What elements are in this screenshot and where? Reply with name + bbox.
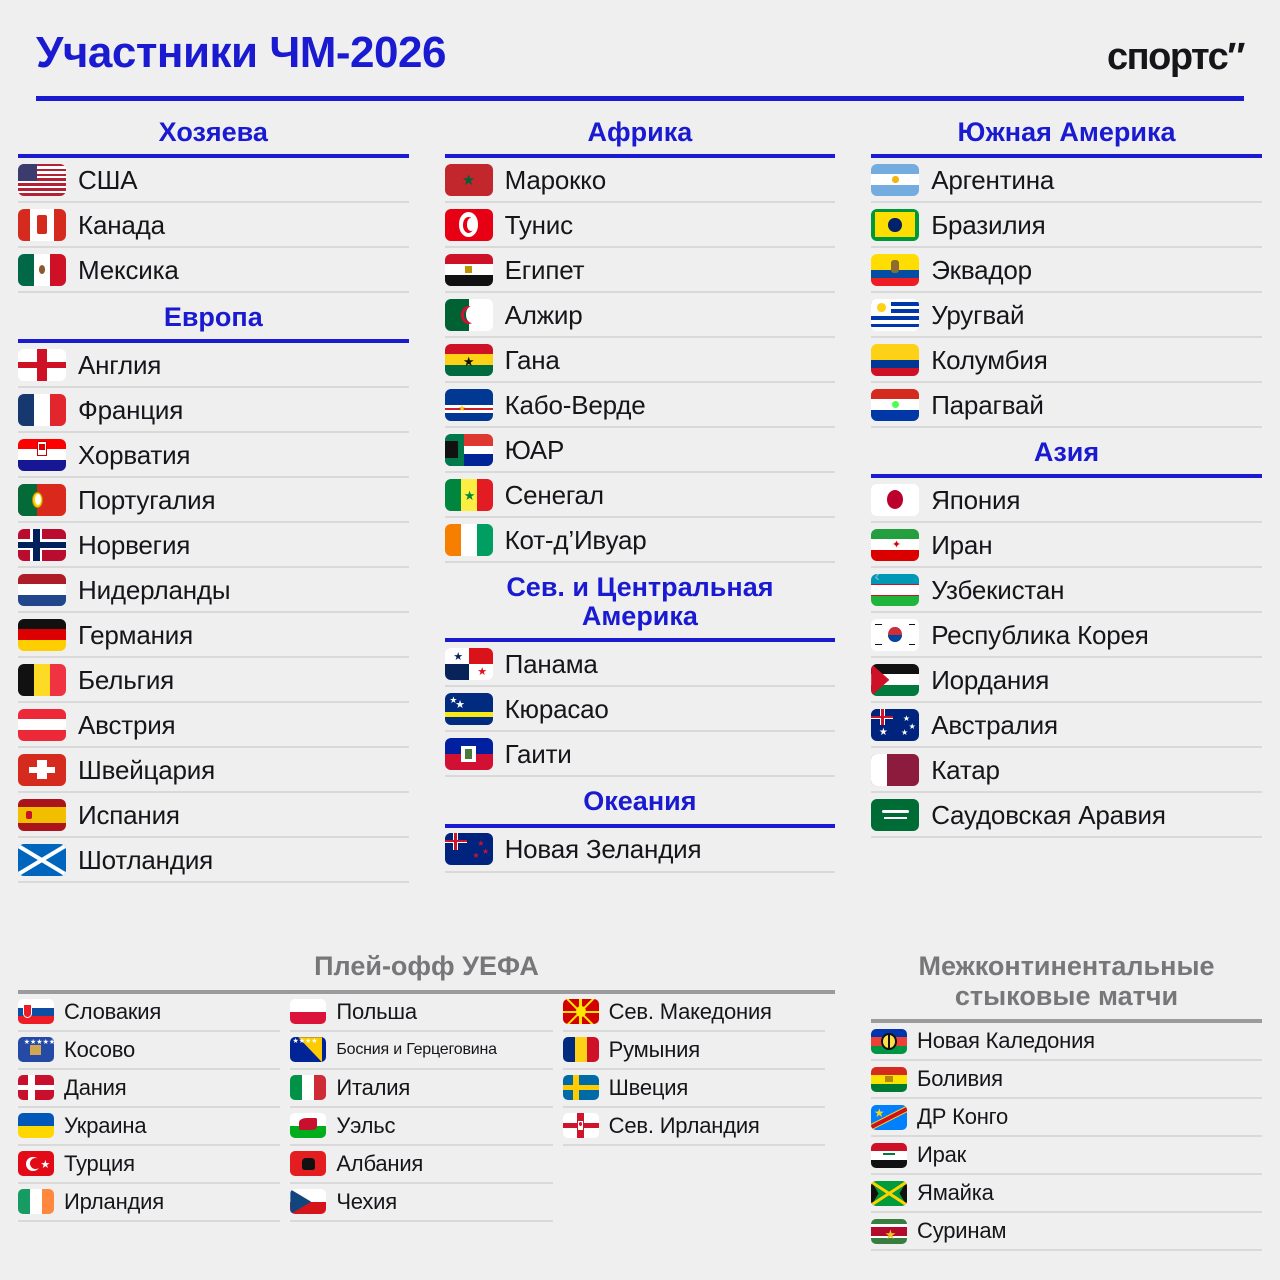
flag-jo-icon	[871, 664, 919, 696]
country-name: Новая Каледония	[917, 1028, 1095, 1054]
country-row[interactable]: ★Марокко	[445, 158, 836, 203]
confederation-section: ХозяеваСШАКанадаМексика	[18, 112, 409, 293]
flag-ie-icon	[18, 1189, 54, 1214]
country-row[interactable]: ★★★Новая Зеландия	[445, 828, 836, 873]
confederation-column: Южная АмерикаАргентинаБразилияЭквадорУру…	[853, 112, 1280, 887]
flag-ua-icon	[18, 1113, 54, 1138]
country-row[interactable]: Эквадор	[871, 248, 1262, 293]
flag-ar-icon	[871, 164, 919, 196]
country-row[interactable]: ✦Иран	[871, 523, 1262, 568]
country-row[interactable]: Германия	[18, 613, 409, 658]
flag-eg-icon	[445, 254, 493, 286]
section-title: Европа	[18, 297, 409, 339]
country-name: Турция	[64, 1151, 135, 1177]
section-title: Сев. и Центральная Америка	[445, 567, 836, 638]
header: Участники ЧМ-2026 спортс″	[0, 0, 1280, 104]
flag-co-icon	[871, 344, 919, 376]
country-name: Узбекистан	[931, 577, 1064, 603]
flag-be-icon	[18, 664, 66, 696]
flag-ca-icon	[18, 209, 66, 241]
country-row[interactable]: Мексика	[18, 248, 409, 293]
country-row[interactable]: ★★Кюрасао	[445, 687, 836, 732]
country-name: Уэльс	[336, 1113, 395, 1139]
playoff-country-row[interactable]: Ирландия	[18, 1184, 280, 1222]
country-row[interactable]: Канада	[18, 203, 409, 248]
flag-fr-icon	[18, 394, 66, 426]
flag-sr-icon: ★	[871, 1219, 907, 1244]
intercontinental-country-row[interactable]: ★Суринам	[871, 1213, 1262, 1251]
playoff-subcolumn: Словакия★★★★★★КосовоДанияУкраина★ТурцияИ…	[18, 994, 290, 1222]
confederation-section: Африка★МароккоТунисЕгипетАлжир★Гана★Кабо…	[445, 112, 836, 563]
playoff-country-row[interactable]: Словакия	[18, 994, 280, 1032]
flag-nz-icon: ★★★	[445, 833, 493, 865]
playoff-country-row[interactable]: Швеция	[563, 1070, 825, 1108]
country-row[interactable]: Бельгия	[18, 658, 409, 703]
country-name: Албания	[336, 1151, 423, 1177]
flag-sn-icon: ★	[445, 479, 493, 511]
flag-no-icon	[18, 529, 66, 561]
flag-jm-icon	[871, 1181, 907, 1206]
intercontinental-block: Межконтинентальные стыковые матчи Новая …	[853, 948, 1280, 1251]
country-name: Англия	[78, 352, 161, 378]
flag-xk-icon: ★★★★★★	[18, 1037, 54, 1062]
flag-iq-icon	[871, 1143, 907, 1168]
intercontinental-country-row[interactable]: Ирак	[871, 1137, 1262, 1175]
confederation-column: ХозяеваСШАКанадаМексикаЕвропаАнглияФранц…	[0, 112, 427, 887]
uefa-playoff-title: Плей-офф УЕФА	[18, 948, 835, 990]
flag-cv-icon: ★	[445, 389, 493, 421]
country-name: Польша	[336, 999, 417, 1025]
country-row[interactable]: Алжир	[445, 293, 836, 338]
playoff-country-row[interactable]: Польша	[290, 994, 552, 1032]
section-title: Африка	[445, 112, 836, 154]
country-row[interactable]: Испания	[18, 793, 409, 838]
country-row[interactable]: Шотландия	[18, 838, 409, 883]
flag-cw-icon: ★★	[445, 693, 493, 725]
country-name: Шотландия	[78, 847, 213, 873]
country-name: Швеция	[609, 1075, 688, 1101]
flag-mx-icon	[18, 254, 66, 286]
section-title: Южная Америка	[871, 112, 1262, 154]
country-name: Австралия	[931, 712, 1058, 738]
intercontinental-country-row[interactable]: Новая Каледония	[871, 1023, 1262, 1061]
confederation-section: Южная АмерикаАргентинаБразилияЭквадорУру…	[871, 112, 1262, 428]
flag-it-icon	[290, 1075, 326, 1100]
flag-se-icon	[563, 1075, 599, 1100]
country-name: Гана	[505, 347, 560, 373]
flag-en-icon	[18, 349, 66, 381]
header-divider	[36, 96, 1244, 101]
flag-bo-icon	[871, 1067, 907, 1092]
flag-ro-icon	[563, 1037, 599, 1062]
country-row[interactable]: Саудовская Аравия	[871, 793, 1262, 838]
country-name: Тунис	[505, 212, 573, 238]
country-name: ЮАР	[505, 437, 565, 463]
country-name: Республика Корея	[931, 622, 1148, 648]
country-name: Катар	[931, 757, 1000, 783]
country-name: Ямайка	[917, 1180, 994, 1206]
country-row[interactable]: ★Гана	[445, 338, 836, 383]
country-name: Иран	[931, 532, 992, 558]
flag-gh-icon: ★	[445, 344, 493, 376]
flag-hr-icon	[18, 439, 66, 471]
flag-us-icon	[18, 164, 66, 196]
playoff-country-row[interactable]: Италия	[290, 1070, 552, 1108]
country-row[interactable]: Уругвай	[871, 293, 1262, 338]
country-name: Новая Зеландия	[505, 836, 702, 862]
section-title: Океания	[445, 781, 836, 823]
flag-nc-icon	[871, 1029, 907, 1054]
flag-ch-icon	[18, 754, 66, 786]
country-row[interactable]: Франция	[18, 388, 409, 433]
country-name: Нидерланды	[78, 577, 230, 603]
country-name: Япония	[931, 487, 1020, 513]
flag-al-icon	[290, 1151, 326, 1176]
confederation-section: Сев. и Центральная Америка★★Панама★★Кюра…	[445, 567, 836, 777]
country-name: Сенегал	[505, 482, 604, 508]
country-row[interactable]: ★Кабо-Верде	[445, 383, 836, 428]
flag-py-icon	[871, 389, 919, 421]
country-name: Украина	[64, 1113, 146, 1139]
flag-ec-icon	[871, 254, 919, 286]
playoff-country-row[interactable]: Чехия	[290, 1184, 552, 1222]
playoff-subcolumn: Сев. МакедонияРумынияШвецияСев. Ирландия	[563, 994, 835, 1222]
flag-tr-icon: ★	[18, 1151, 54, 1176]
country-name: Косово	[64, 1037, 135, 1063]
country-name: Германия	[78, 622, 193, 648]
country-name: Иордания	[931, 667, 1049, 693]
country-name: Эквадор	[931, 257, 1032, 283]
country-name: Дания	[64, 1075, 127, 1101]
playoff-country-row[interactable]: ★★★★★★Косово	[18, 1032, 280, 1070]
country-name: Норвегия	[78, 532, 190, 558]
country-row[interactable]: Тунис	[445, 203, 836, 248]
country-name: Египет	[505, 257, 585, 283]
flag-ir-icon: ✦	[871, 529, 919, 561]
intercontinental-title: Межконтинентальные стыковые матчи	[871, 948, 1262, 1019]
flag-pa-icon: ★★	[445, 648, 493, 680]
country-name: Боливия	[917, 1066, 1003, 1092]
confederation-section: АзияЯпония✦Иран☾УзбекистанРеспублика Кор…	[871, 432, 1262, 838]
country-name: Кюрасао	[505, 696, 609, 722]
flag-uy-icon	[871, 299, 919, 331]
flag-ba-icon: ★★★★	[290, 1037, 326, 1062]
country-row[interactable]: Аргентина	[871, 158, 1262, 203]
country-row[interactable]: Португалия	[18, 478, 409, 523]
country-name: Бельгия	[78, 667, 174, 693]
country-row[interactable]: Иордания	[871, 658, 1262, 703]
country-name: Италия	[336, 1075, 410, 1101]
country-name: Гаити	[505, 741, 572, 767]
flag-sa-icon	[871, 799, 919, 831]
country-name: Босния и Герцеговина	[336, 1041, 497, 1059]
flag-sk-icon	[18, 999, 54, 1024]
country-row[interactable]: Япония	[871, 478, 1262, 523]
playoff-subcolumn: Польша★★★★Босния и ГерцеговинаИталияУэль…	[290, 994, 562, 1222]
playoff-country-row[interactable]: Албания	[290, 1146, 552, 1184]
country-row[interactable]: США	[18, 158, 409, 203]
country-row[interactable]: Кот-д’Ивуар	[445, 518, 836, 563]
country-name: Ирландия	[64, 1189, 164, 1215]
flag-pt-icon	[18, 484, 66, 516]
bottom-sections: Плей-офф УЕФА Словакия★★★★★★КосовоДанияУ…	[0, 948, 1280, 1251]
playoff-country-row[interactable]: Румыния	[563, 1032, 825, 1070]
country-name: ДР Конго	[917, 1104, 1008, 1130]
infographic-page: Участники ЧМ-2026 спортс″ ХозяеваСШАКана…	[0, 0, 1280, 1280]
playoff-country-row[interactable]: Сев. Македония	[563, 994, 825, 1032]
country-row[interactable]: ☾Узбекистан	[871, 568, 1262, 613]
flag-za-icon	[445, 434, 493, 466]
playoff-country-row[interactable]: ★Турция	[18, 1146, 280, 1184]
confederation-column: Африка★МароккоТунисЕгипетАлжир★Гана★Кабо…	[427, 112, 854, 887]
country-row[interactable]: Швейцария	[18, 748, 409, 793]
country-row[interactable]: Парагвай	[871, 383, 1262, 428]
country-row[interactable]: Хорватия	[18, 433, 409, 478]
country-name: Словакия	[64, 999, 161, 1025]
country-name: Португалия	[78, 487, 215, 513]
flag-cz-icon	[290, 1189, 326, 1214]
country-name: Австрия	[78, 712, 175, 738]
country-name: Хорватия	[78, 442, 190, 468]
country-row[interactable]: ЮАР	[445, 428, 836, 473]
flag-cd-icon: ★	[871, 1105, 907, 1130]
country-row[interactable]: Бразилия	[871, 203, 1262, 248]
country-name: Колумбия	[931, 347, 1047, 373]
flag-ht-icon	[445, 738, 493, 770]
flag-wa-icon	[290, 1113, 326, 1138]
flag-kr-icon	[871, 619, 919, 651]
country-name: Парагвай	[931, 392, 1043, 418]
playoff-country-row[interactable]: Украина	[18, 1108, 280, 1146]
flag-jp-icon	[871, 484, 919, 516]
country-name: Сев. Македония	[609, 999, 772, 1025]
flag-de-icon	[18, 619, 66, 651]
country-name: Ирак	[917, 1142, 966, 1168]
flag-tn-icon	[445, 209, 493, 241]
country-name: Испания	[78, 802, 180, 828]
country-name: Алжир	[505, 302, 583, 328]
country-name: Бразилия	[931, 212, 1045, 238]
country-name: Мексика	[78, 257, 179, 283]
country-name: Канада	[78, 212, 165, 238]
main-columns: ХозяеваСШАКанадаМексикаЕвропаАнглияФранц…	[0, 112, 1280, 887]
intercontinental-country-row[interactable]: Боливия	[871, 1061, 1262, 1099]
country-row[interactable]: Колумбия	[871, 338, 1262, 383]
country-name: Суринам	[917, 1218, 1006, 1244]
flag-mk-icon	[563, 999, 599, 1024]
country-name: Сев. Ирландия	[609, 1113, 760, 1139]
section-title: Азия	[871, 432, 1262, 474]
country-name: Кабо-Верде	[505, 392, 646, 418]
playoff-country-row[interactable]: ★★★★Босния и Герцеговина	[290, 1032, 552, 1070]
confederation-section: Океания★★★Новая Зеландия	[445, 781, 836, 872]
flag-dk-icon	[18, 1075, 54, 1100]
flag-ci-icon	[445, 524, 493, 556]
flag-ni-icon	[563, 1113, 599, 1138]
flag-uz-icon: ☾	[871, 574, 919, 606]
country-row[interactable]: ★★★★Австралия	[871, 703, 1262, 748]
flag-ma-icon: ★	[445, 164, 493, 196]
playoff-country-row[interactable]: Дания	[18, 1070, 280, 1108]
flag-br-icon	[871, 209, 919, 241]
country-name: Марокко	[505, 167, 606, 193]
country-row[interactable]: ★Сенегал	[445, 473, 836, 518]
country-row[interactable]: Египет	[445, 248, 836, 293]
country-row[interactable]: Австрия	[18, 703, 409, 748]
country-name: Кот-д’Ивуар	[505, 527, 647, 553]
country-name: Румыния	[609, 1037, 700, 1063]
flag-qa-icon	[871, 754, 919, 786]
country-name: Уругвай	[931, 302, 1024, 328]
country-row[interactable]: Норвегия	[18, 523, 409, 568]
country-row[interactable]: ★★Панама	[445, 642, 836, 687]
country-name: Саудовская Аравия	[931, 802, 1166, 828]
intercontinental-country-row[interactable]: ★ДР Конго	[871, 1099, 1262, 1137]
country-name: Аргентина	[931, 167, 1054, 193]
country-name: Чехия	[336, 1189, 397, 1215]
country-row[interactable]: Англия	[18, 343, 409, 388]
country-name: Франция	[78, 397, 183, 423]
flag-pl-icon	[290, 999, 326, 1024]
country-row[interactable]: Гаити	[445, 732, 836, 777]
flag-es-icon	[18, 799, 66, 831]
country-name: Панама	[505, 651, 598, 677]
country-row[interactable]: Катар	[871, 748, 1262, 793]
country-row[interactable]: Нидерланды	[18, 568, 409, 613]
flag-at-icon	[18, 709, 66, 741]
country-name: Швейцария	[78, 757, 215, 783]
playoff-country-row[interactable]: Сев. Ирландия	[563, 1108, 825, 1146]
flag-nl-icon	[18, 574, 66, 606]
section-title: Хозяева	[18, 112, 409, 154]
country-row[interactable]: Республика Корея	[871, 613, 1262, 658]
sports-ru-logo: спортс″	[1107, 36, 1244, 79]
flag-dz-icon	[445, 299, 493, 331]
country-name: США	[78, 167, 137, 193]
flag-sc-icon	[18, 844, 66, 876]
uefa-playoff-block: Плей-офф УЕФА Словакия★★★★★★КосовоДанияУ…	[0, 948, 853, 1251]
flag-au-icon: ★★★★	[871, 709, 919, 741]
intercontinental-country-row[interactable]: Ямайка	[871, 1175, 1262, 1213]
confederation-section: ЕвропаАнглияФранцияХорватияПортугалияНор…	[18, 297, 409, 883]
page-title: Участники ЧМ-2026	[36, 28, 446, 78]
playoff-country-row[interactable]: Уэльс	[290, 1108, 552, 1146]
